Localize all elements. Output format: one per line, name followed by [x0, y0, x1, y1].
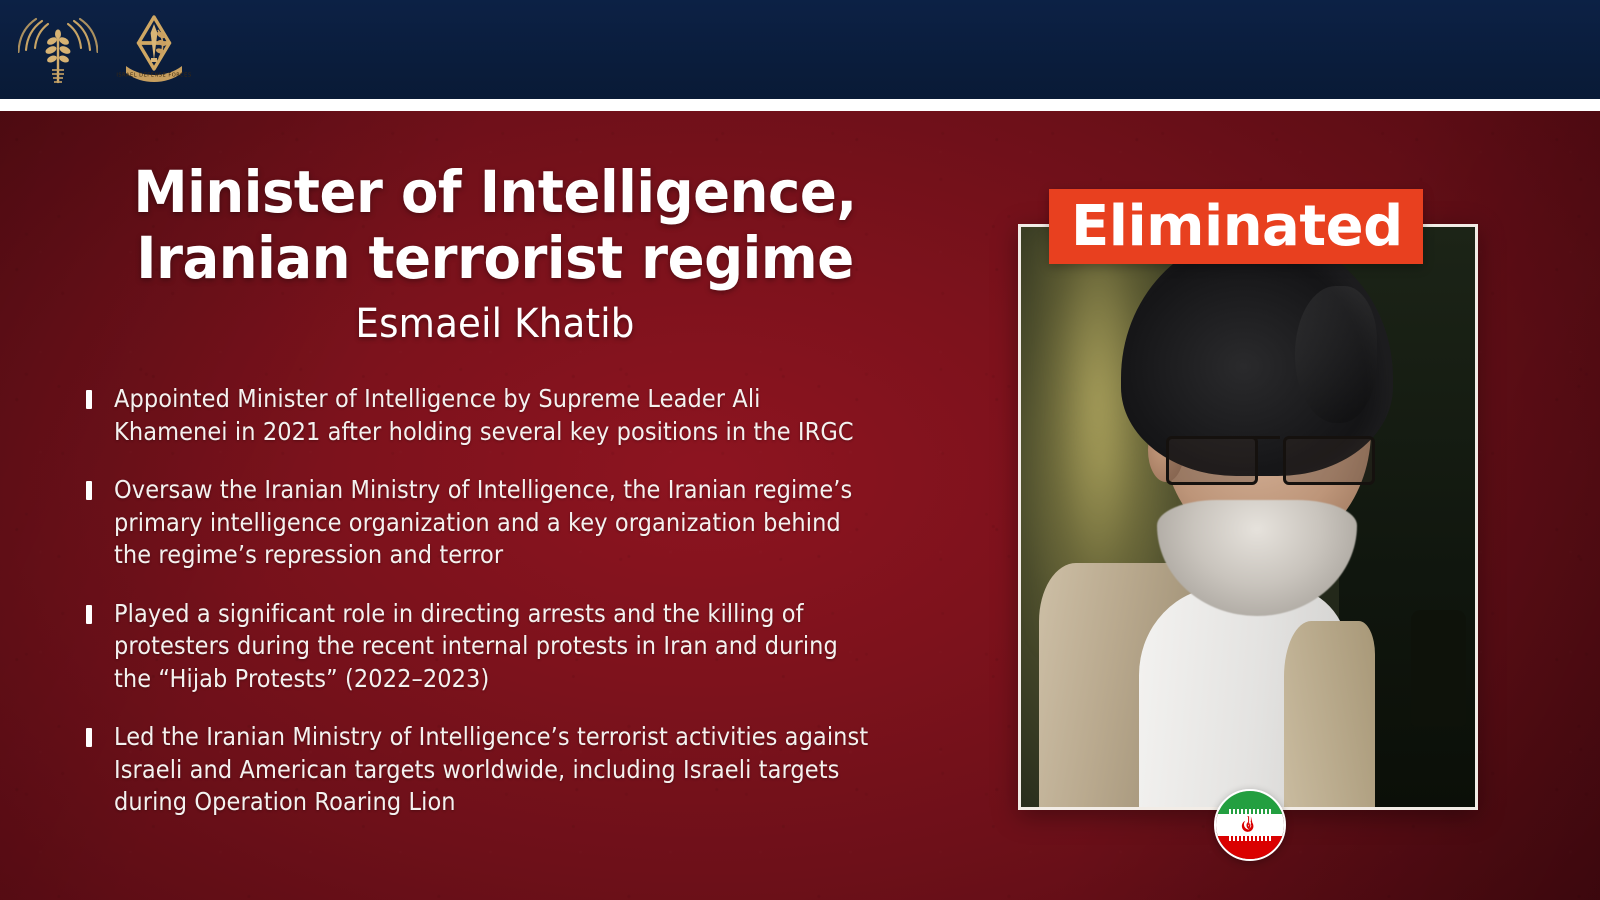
title-block: Minister of Intelligence, Iranian terror…	[0, 159, 990, 347]
bullet-list: Appointed Minister of Intelligence by Su…	[86, 383, 966, 845]
content-column: Minister of Intelligence, Iranian terror…	[0, 111, 990, 900]
page-title-line-1: Minister of Intelligence,	[30, 159, 961, 225]
idf-emblem-banner-text: ISRAEL DEFENSE FORCES	[116, 73, 191, 79]
header-logos: ISRAEL DEFENSE FORCES	[18, 8, 194, 90]
glasses-lens-left	[1166, 436, 1258, 485]
turban-fold	[1295, 286, 1377, 422]
list-item: Oversaw the Iranian Ministry of Intellig…	[86, 474, 966, 572]
list-item: Led the Iranian Ministry of Intelligence…	[86, 721, 966, 819]
bullet-text: Appointed Minister of Intelligence by Su…	[114, 383, 881, 448]
list-item: Appointed Minister of Intelligence by Su…	[86, 383, 966, 448]
glasses-lens-right	[1283, 436, 1375, 485]
bullet-marker-icon	[86, 390, 92, 409]
bullet-text: Led the Iranian Ministry of Intelligence…	[114, 721, 881, 819]
glasses-bridge	[1216, 436, 1280, 439]
status-badge: Eliminated	[1049, 189, 1423, 264]
flag-kufic-bottom	[1216, 836, 1284, 841]
bullet-marker-icon	[86, 481, 92, 500]
iran-emblem-icon	[1238, 813, 1262, 837]
page-title-line-2: Iranian terrorist regime	[30, 225, 961, 291]
header-divider-strip	[0, 99, 1600, 111]
bullet-marker-icon	[86, 728, 92, 747]
idf-emblem: ISRAEL DEFENSE FORCES	[114, 8, 194, 90]
bullet-text: Oversaw the Iranian Ministry of Intellig…	[114, 474, 881, 572]
portrait-image	[1021, 227, 1475, 807]
status-badge-label: Eliminated	[1071, 199, 1403, 255]
portrait-glasses	[1166, 436, 1375, 485]
subject-photo	[1018, 224, 1478, 810]
header-bar: ISRAEL DEFENSE FORCES	[0, 0, 1600, 99]
subject-name: Esmaeil Khatib	[35, 301, 956, 347]
idf-spokesperson-unit-emblem	[18, 8, 98, 90]
robe-tan-right	[1284, 621, 1375, 807]
photo-dark-object	[1411, 610, 1465, 726]
bullet-text: Played a significant role in directing a…	[114, 598, 881, 696]
infographic-poster: ISRAEL DEFENSE FORCES Minister of Intell…	[0, 0, 1600, 900]
list-item: Played a significant role in directing a…	[86, 598, 966, 696]
iran-flag-icon	[1214, 789, 1286, 861]
bullet-marker-icon	[86, 605, 92, 624]
